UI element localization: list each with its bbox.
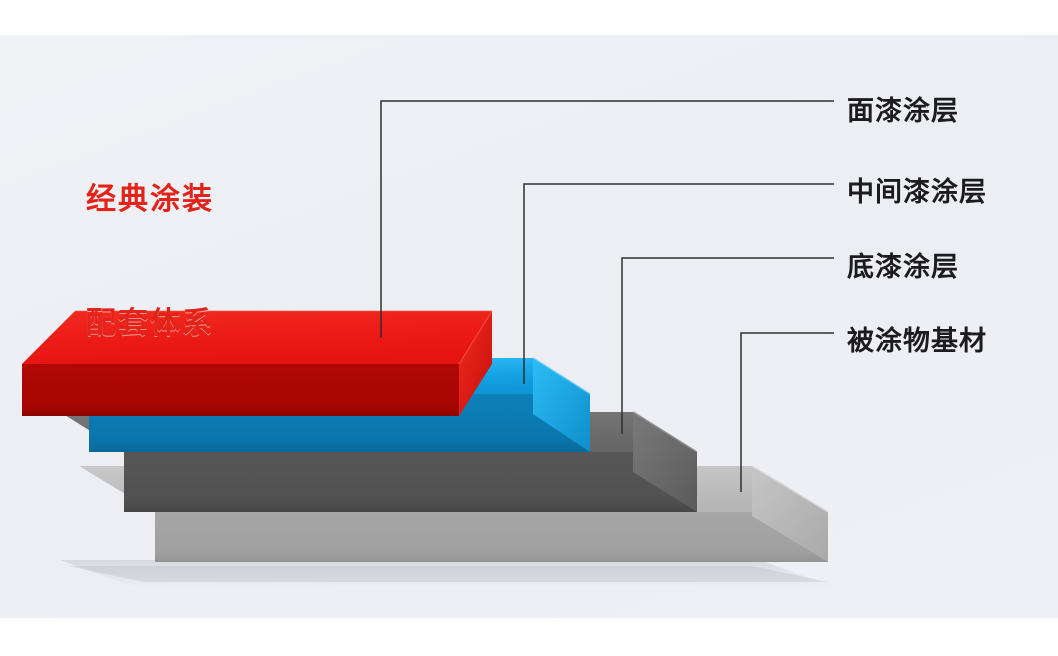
layer-primer-front-face bbox=[124, 452, 697, 512]
layer-substrate-front-face bbox=[155, 512, 828, 562]
diagram-canvas: 经典涂装 配套体系 面漆涂层 中间漆涂层 底漆涂层 被涂物基材 bbox=[0, 0, 1058, 656]
leader-line-primer bbox=[622, 258, 834, 434]
leader-line-topcoat bbox=[381, 101, 834, 338]
label-substrate: 被涂物基材 bbox=[847, 319, 987, 358]
page-title-line-2: 配套体系 bbox=[86, 303, 214, 344]
label-intermediate: 中间漆涂层 bbox=[847, 170, 987, 209]
page-title-line-1: 经典涂装 bbox=[86, 179, 214, 220]
leader-line-intermediate bbox=[524, 184, 834, 384]
stack-drop-shadow bbox=[60, 560, 836, 588]
label-topcoat: 面漆涂层 bbox=[847, 89, 959, 128]
page-title: 经典涂装 配套体系 bbox=[86, 96, 214, 427]
label-primer: 底漆涂层 bbox=[847, 245, 959, 284]
